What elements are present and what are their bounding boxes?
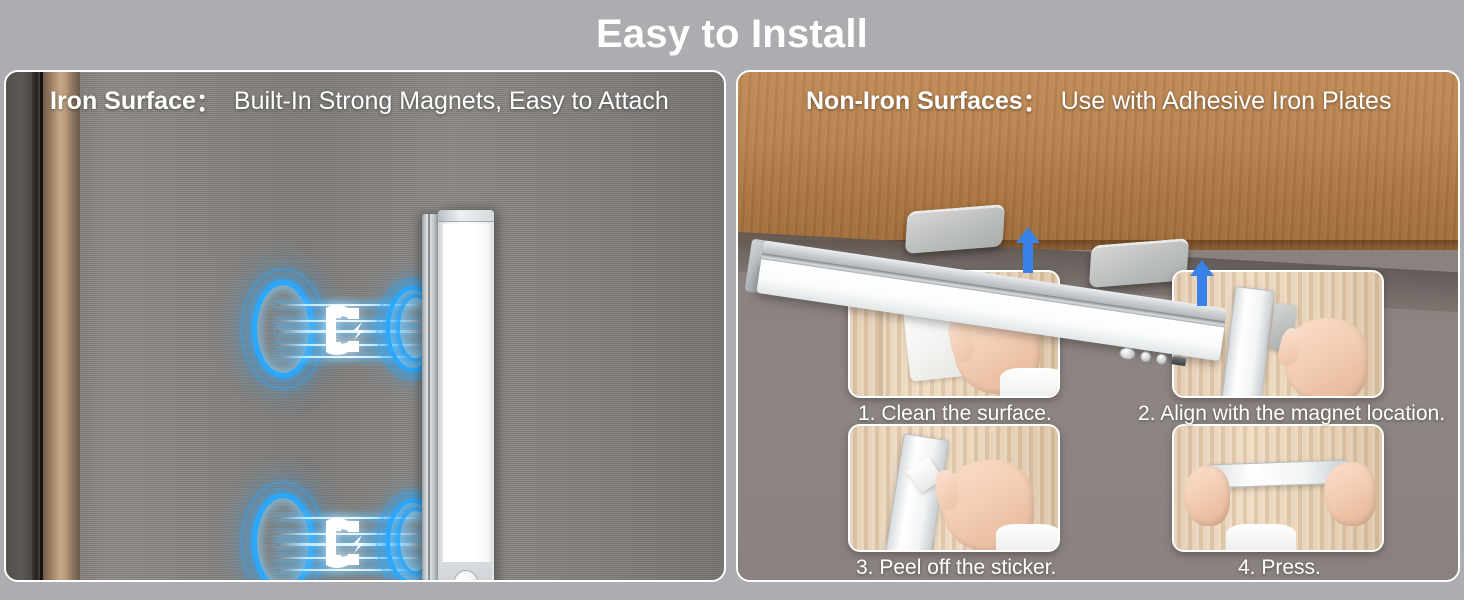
panel-right-header-strong: Non-Iron Surfaces — [806, 87, 1023, 116]
wall-strip — [6, 72, 32, 580]
hand-right — [1324, 462, 1376, 526]
steel-surface-background — [6, 72, 724, 580]
power-button[interactable] — [1155, 352, 1167, 364]
horseshoe-magnet-icon — [322, 304, 376, 356]
step-photo-press — [1172, 424, 1384, 552]
up-arrow-icon — [1190, 260, 1214, 306]
light-bar-control-panel — [440, 562, 492, 582]
step-caption-3: 3. Peel off the sticker. — [856, 556, 1056, 580]
horseshoe-magnet-icon — [322, 517, 376, 569]
motion-sensor-icon — [1119, 346, 1137, 360]
page-title: Easy to Install — [0, 6, 1464, 62]
magnet-ring-large — [252, 280, 314, 378]
adhesive-iron-plate — [905, 204, 1005, 254]
panel-right-header: Non-Iron Surfaces ： Use with Adhesive Ir… — [738, 72, 1458, 130]
step-photo-peel-sticker — [848, 424, 1060, 552]
panel-left-header-strong: Iron Surface — [50, 87, 196, 116]
panel-right-header-rest: Use with Adhesive Iron Plates — [1061, 87, 1392, 116]
wood-door-frame — [32, 72, 80, 580]
hand-left — [1184, 466, 1230, 526]
light-bar-end-cap — [438, 210, 494, 222]
light-bar-body — [438, 210, 494, 582]
led-light-bar-vertical — [422, 210, 494, 582]
panel-right-header-colon: ： — [1023, 83, 1048, 119]
mode-button[interactable] — [1139, 350, 1151, 362]
sleeve — [1000, 368, 1060, 398]
panel-iron-surface: Iron Surface ： Built-In Strong Magnets, … — [4, 70, 726, 582]
panel-left-header-colon: ： — [196, 83, 221, 119]
sleeve — [996, 524, 1060, 552]
panel-non-iron-surfaces: 1. Clean the surface. 2. Align with the … — [736, 70, 1460, 582]
panel-left-header: Iron Surface ： Built-In Strong Magnets, … — [6, 72, 724, 130]
step-caption-2: 2. Align with the magnet location. — [1138, 402, 1445, 426]
step-caption-1: 1. Clean the surface. — [858, 402, 1052, 426]
motion-sensor-icon — [453, 570, 479, 582]
up-arrow-icon — [1016, 227, 1040, 273]
charging-port-icon — [1171, 356, 1186, 366]
panel-left-header-rest: Built-In Strong Magnets, Easy to Attach — [234, 87, 669, 116]
light-bar-diffuser — [443, 224, 490, 564]
wood-cabinet-background: 1. Clean the surface. 2. Align with the … — [738, 72, 1458, 580]
step-caption-4: 4. Press. — [1238, 556, 1321, 580]
sleeve — [1226, 524, 1296, 552]
